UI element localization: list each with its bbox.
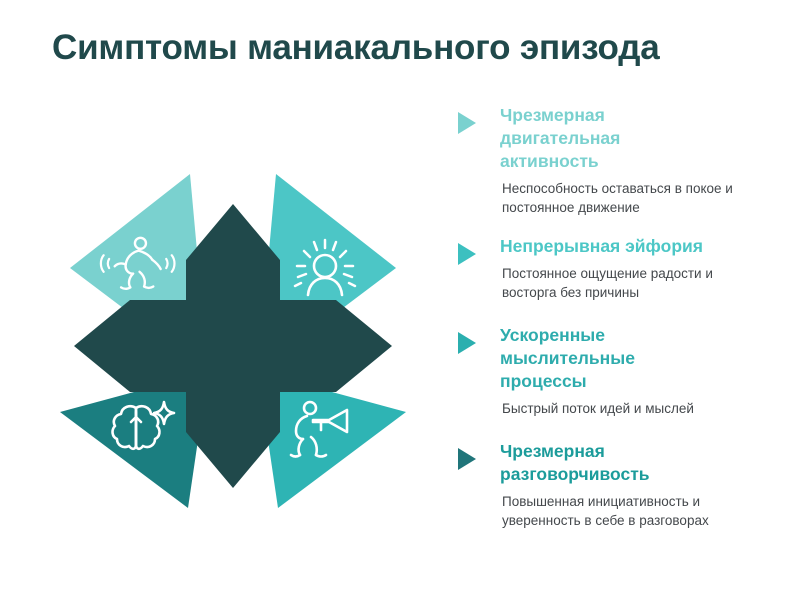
triangle-marker-icon bbox=[458, 332, 476, 354]
symptom-heading: Чрезмерная двигательная активность bbox=[500, 104, 715, 173]
wedge-bottom-left bbox=[60, 372, 208, 508]
triangle-marker-icon bbox=[458, 112, 476, 134]
wedge-bottom-right bbox=[258, 372, 406, 508]
page-title: Симптомы маниакального эпизода bbox=[52, 26, 772, 70]
symptom-list: Чрезмерная двигательная активность Неспо… bbox=[458, 104, 758, 530]
central-illustration bbox=[48, 160, 418, 520]
symptom-item-4: Чрезмерная разговорчивость Повышенная ин… bbox=[458, 440, 758, 530]
symptom-heading: Непрерывная эйфория bbox=[500, 235, 715, 258]
symptom-description: Неспособность оставаться в покое и посто… bbox=[500, 179, 758, 217]
triangle-marker-icon bbox=[458, 448, 476, 470]
symptom-item-1: Чрезмерная двигательная активность Неспо… bbox=[458, 104, 758, 217]
symptom-description: Быстрый поток идей и мыслей bbox=[500, 399, 758, 418]
symptom-description: Постоянное ощущение радости и восторга б… bbox=[500, 264, 758, 302]
symptom-item-2: Непрерывная эйфория Постоянное ощущение … bbox=[458, 235, 758, 302]
infographic-root: Симптомы маниакального эпизода bbox=[0, 0, 792, 610]
triangle-marker-icon bbox=[458, 243, 476, 265]
symptom-item-3: Ускоренные мыслительные процессы Быстрый… bbox=[458, 324, 758, 418]
symptom-description: Повышенная инициативность и уверенность … bbox=[500, 492, 758, 530]
symptom-heading: Чрезмерная разговорчивость bbox=[500, 440, 715, 486]
symptom-heading: Ускоренные мыслительные процессы bbox=[500, 324, 715, 393]
